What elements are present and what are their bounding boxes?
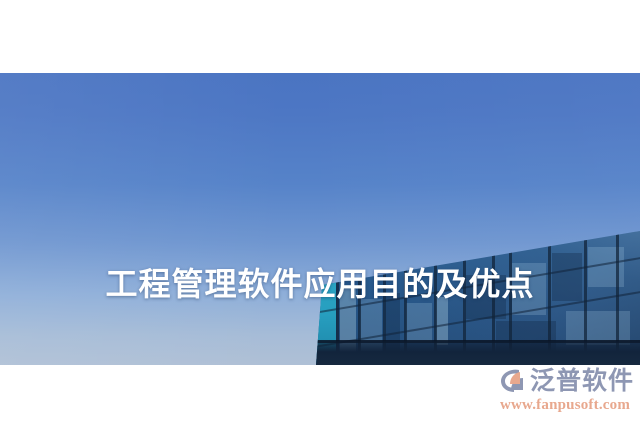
brand-website: www.fanpusoft.com <box>500 398 630 413</box>
page-title: 工程管理软件应用目的及优点 <box>0 259 640 305</box>
banner-page: 工程管理软件应用目的及优点 泛普软件 www.fanpusoft.com <box>0 0 640 427</box>
glass-reflection-panel <box>406 303 432 343</box>
brand-name: 泛普软件 <box>530 368 634 393</box>
fanpu-arc-logo-icon <box>496 365 526 395</box>
hero-banner: 工程管理软件应用目的及优点 <box>0 73 640 365</box>
building-base-band <box>316 341 640 365</box>
brand-logo[interactable]: 泛普软件 www.fanpusoft.com <box>496 365 634 413</box>
brand-logo-row: 泛普软件 <box>496 365 634 395</box>
